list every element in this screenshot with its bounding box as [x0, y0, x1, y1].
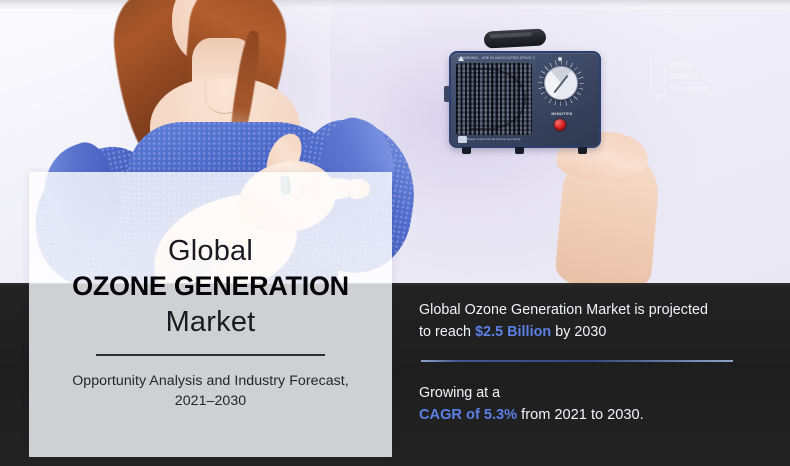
device-foot-right: [578, 147, 587, 154]
power-button-icon[interactable]: [553, 118, 567, 132]
quote-bracket-icon: [650, 59, 666, 95]
projection-prefix: Global Ozone Generation Market is projec…: [419, 302, 708, 318]
infographic-root: ⚠ WARNING - USE IN UNOCCUPIED SPACE ONLY…: [0, 0, 790, 466]
projection-statement: Global Ozone Generation Market is projec…: [419, 300, 765, 343]
logo-line-2: Market: [670, 70, 709, 82]
logo-line-1: Allied: [670, 58, 709, 70]
report-subtitle-line-2: 2021–2030: [175, 393, 246, 409]
device-footnote-label: Please read manual before operating: [466, 137, 546, 143]
growth-statement: CAGR of 5.3% from 2021 to 2030.: [419, 404, 765, 427]
cagr-period: from 2021 to 2030.: [517, 407, 644, 423]
logo-wordmark: Allied Market Research: [670, 58, 709, 94]
report-subtitle-line-1: Opportunity Analysis and Industry Foreca…: [72, 373, 349, 389]
report-eyebrow: Global: [168, 234, 253, 268]
report-subtitle: Opportunity Analysis and Industry Foreca…: [38, 371, 383, 411]
title-divider: [96, 354, 325, 356]
dial-label: MINUTES: [543, 111, 581, 116]
device-foot-left: [462, 147, 471, 154]
projection-value: $2.5 Billion: [475, 324, 551, 340]
timer-dial-knob[interactable]: [544, 66, 578, 100]
report-title-suffix: Market: [166, 305, 256, 339]
cagr-value: CAGR of 5.3%: [419, 407, 517, 423]
allied-market-research-logo: Allied Market Research: [650, 57, 742, 101]
logo-line-3: Research: [670, 82, 709, 94]
projection-reach-text: to reach: [419, 324, 475, 340]
report-title-card: Global OZONE GENERATION Market Opportuni…: [29, 172, 392, 457]
stats-divider: [421, 360, 733, 362]
growth-label: Growing at a: [419, 382, 765, 404]
device-handle: [484, 28, 547, 48]
device-warning-label: ⚠ WARNING - USE IN UNOCCUPIED SPACE ONLY: [457, 56, 535, 62]
projection-suffix: by 2030: [551, 324, 606, 340]
device-foot-middle: [515, 147, 524, 154]
key-stats-panel: Global Ozone Generation Market is projec…: [419, 300, 765, 440]
page-title: OZONE GENERATION: [72, 270, 349, 303]
